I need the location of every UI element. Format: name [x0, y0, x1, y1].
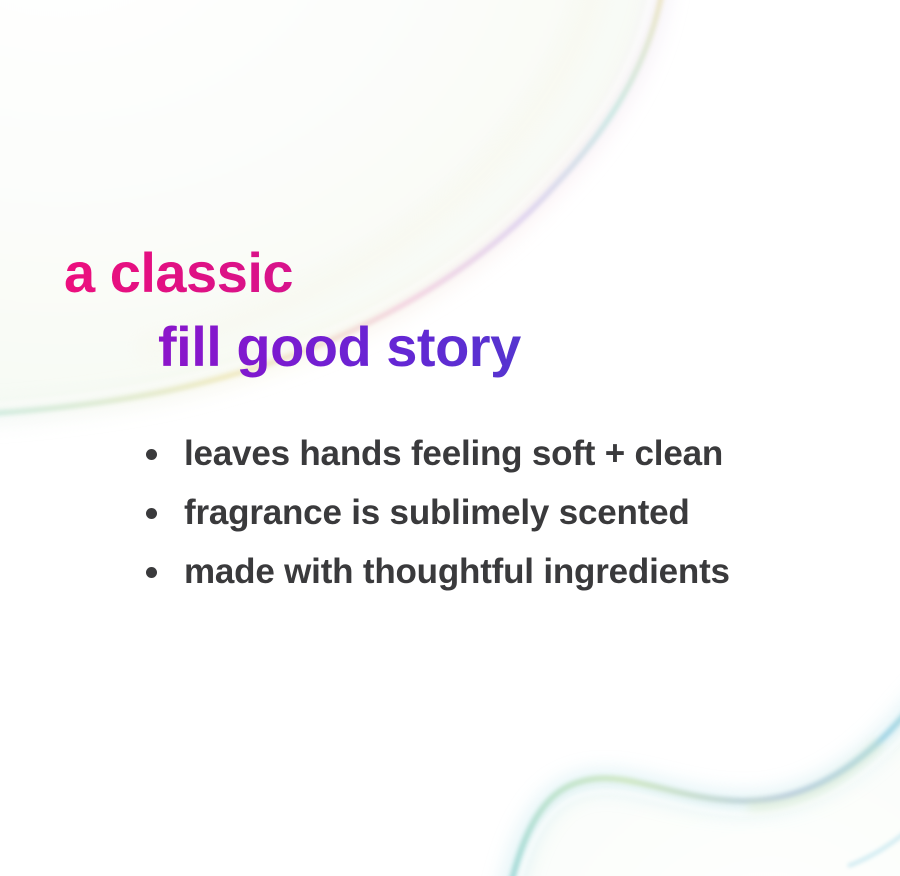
bullet-dot-icon	[146, 449, 157, 460]
list-item: leaves hands feeling soft + clean	[0, 424, 900, 483]
list-item: made with thoughtful ingredients	[0, 542, 900, 601]
feature-label: fragrance is sublimely scented	[184, 495, 690, 530]
promo-graphic-canvas: a classic fill good story leaves hands f…	[0, 0, 900, 876]
feature-list: leaves hands feeling soft + clean fragra…	[0, 424, 900, 601]
bullet-dot-icon	[146, 508, 157, 519]
feature-label: leaves hands feeling soft + clean	[184, 436, 723, 471]
headline-line-1: a classic	[64, 236, 900, 310]
feature-label: made with thoughtful ingredients	[184, 554, 730, 589]
list-item: fragrance is sublimely scented	[0, 483, 900, 542]
headline-line-2: fill good story	[158, 310, 900, 384]
headline: a classic fill good story	[0, 236, 900, 384]
bullet-dot-icon	[146, 567, 157, 578]
